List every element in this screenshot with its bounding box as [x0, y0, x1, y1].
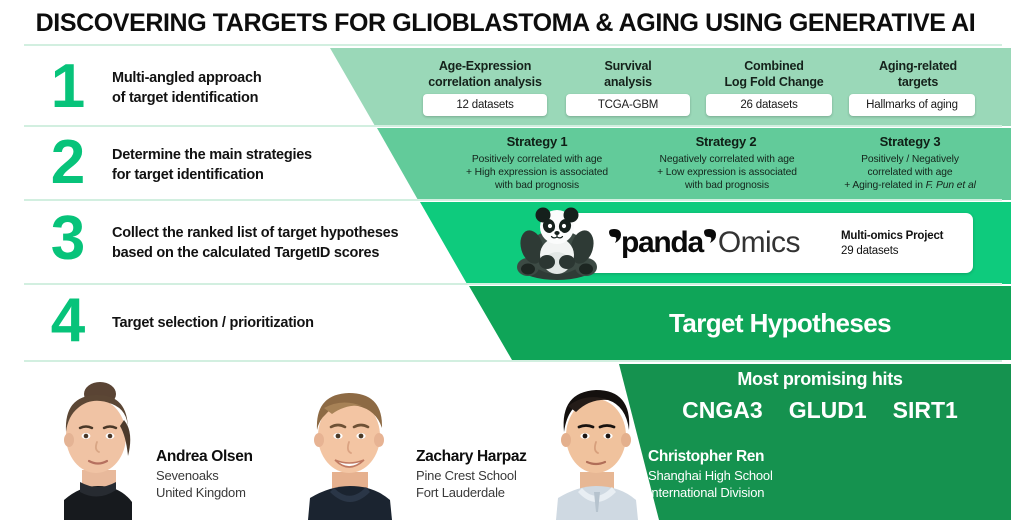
row1-col2-head-line2: analysis: [563, 74, 693, 90]
strategy-1-title: Strategy 1: [452, 134, 622, 150]
strategy-2-line3: with bad prognosis: [633, 179, 821, 192]
infographic-root: DISCOVERING TARGETS FOR GLIOBLASTOMA & A…: [0, 0, 1011, 520]
strategy-1-body: Positively correlated with age + High ex…: [442, 153, 632, 193]
person-1-location: United Kingdom: [156, 484, 246, 501]
portrait-andrea-olsen: [34, 374, 162, 520]
step-label-1: Multi-angled approach of target identifi…: [112, 68, 261, 108]
step-label-1-line2: of target identification: [112, 88, 261, 108]
gene-cnga3: CNGA3: [682, 397, 763, 424]
step-number-4: 4: [24, 290, 110, 352]
row1-col3-heading: Combined Log Fold Change: [700, 58, 848, 90]
logo-quote-left-icon: [608, 229, 622, 245]
person-3-location: International Division: [648, 484, 764, 501]
step-label-3: Collect the ranked list of target hypoth…: [112, 223, 398, 263]
project-name-text: Multi-omics Project: [841, 230, 943, 242]
logo-quote-right-icon: [703, 229, 717, 245]
panda-mascot-icon: [516, 207, 598, 281]
strategy-3-line2: correlated with age: [824, 166, 996, 179]
project-name: Multi-omics Project: [841, 229, 943, 244]
person-3-school: Shanghai High School: [648, 467, 773, 484]
person-1-name: Andrea Olsen: [156, 448, 253, 466]
most-promising-hits-title: Most promising hits: [660, 369, 980, 390]
row1-col3-pill[interactable]: 26 datasets: [706, 94, 832, 116]
strategy-3-line3: + Aging-related in F. Pun et al: [824, 179, 996, 192]
step-label-2-line1: Determine the main strategies: [112, 145, 312, 165]
strategy-3-line3-text: + Aging-related in: [844, 180, 925, 191]
row1-col1-head-line1: Age-Expression: [406, 58, 564, 74]
row1-col1-pill[interactable]: 12 datasets: [423, 94, 547, 116]
person-2-name: Zachary Harpaz: [416, 448, 527, 466]
divider-top: [24, 44, 1002, 46]
step-label-4-line1: Target selection / prioritization: [112, 313, 314, 333]
row1-col1-head-line2: correlation analysis: [406, 74, 564, 90]
row1-col4-head-line2: targets: [848, 74, 988, 90]
strategy-3-line1: Positively / Negatively: [824, 153, 996, 166]
divider-row1: [24, 125, 1002, 127]
row1-col2-head-line1: Survival: [563, 58, 693, 74]
strategy-2-title: Strategy 2: [641, 134, 811, 150]
promising-genes-list: CNGA3 GLUD1 SIRT1: [660, 397, 980, 424]
person-2-school: Pine Crest School: [416, 467, 517, 484]
strategy-1-line2: + High expression is associated: [442, 166, 632, 179]
divider-row2: [24, 199, 1002, 201]
divider-row3: [24, 283, 1002, 285]
step-label-4: Target selection / prioritization: [112, 313, 314, 333]
step-label-1-line1: Multi-angled approach: [112, 68, 261, 88]
row1-col1-heading: Age-Expression correlation analysis: [406, 58, 564, 90]
person-2-location: Fort Lauderdale: [416, 484, 505, 501]
row1-col4-head-line1: Aging-related: [848, 58, 988, 74]
strategy-1-line3: with bad prognosis: [442, 179, 632, 192]
gene-glud1: GLUD1: [789, 397, 867, 424]
strategy-3-title: Strategy 3: [828, 134, 992, 150]
portrait-zachary-harpaz: [284, 374, 414, 520]
strategy-3-body: Positively / Negatively correlated with …: [824, 153, 996, 193]
row1-col4-heading: Aging-related targets: [848, 58, 988, 90]
step-label-2: Determine the main strategies for target…: [112, 145, 312, 185]
step-label-3-line1: Collect the ranked list of target hypoth…: [112, 223, 398, 243]
pandaomics-logo-light: Omics: [718, 228, 800, 258]
pandaomics-project-meta: Multi-omics Project 29 datasets: [841, 229, 943, 259]
person-3-name: Christopher Ren: [648, 448, 764, 466]
target-hypotheses-banner: Target Hypotheses: [560, 308, 1000, 339]
strategy-2-line1: Negatively correlated with age: [633, 153, 821, 166]
divider-row4: [24, 360, 1002, 362]
step-label-3-line2: based on the calculated TargetID scores: [112, 243, 398, 263]
person-1-school: Sevenoaks: [156, 467, 219, 484]
step-number-2: 2: [24, 132, 110, 194]
strategy-1-line1: Positively correlated with age: [442, 153, 632, 166]
gene-sirt1: SIRT1: [893, 397, 958, 424]
strategy-3-citation: F. Pun et al: [926, 180, 976, 191]
row1-col4-pill[interactable]: Hallmarks of aging: [849, 94, 975, 116]
row1-col2-heading: Survival analysis: [563, 58, 693, 90]
project-dataset-count: 29 datasets: [841, 244, 943, 259]
row1-col3-head-line1: Combined: [700, 58, 848, 74]
row1-col3-head-line2: Log Fold Change: [700, 74, 848, 90]
strategy-2-body: Negatively correlated with age + Low exp…: [633, 153, 821, 193]
strategy-2-line2: + Low expression is associated: [633, 166, 821, 179]
portrait-christopher-ren: [532, 372, 660, 520]
step-label-2-line2: for target identification: [112, 165, 312, 185]
page-title: DISCOVERING TARGETS FOR GLIOBLASTOMA & A…: [0, 6, 1011, 40]
step-number-1: 1: [24, 56, 110, 118]
pandaomics-logo-bold: panda: [621, 228, 703, 258]
pandaomics-logo: panda Omics: [608, 228, 800, 258]
step-number-3: 3: [24, 208, 110, 270]
row1-col2-pill[interactable]: TCGA-GBM: [566, 94, 690, 116]
